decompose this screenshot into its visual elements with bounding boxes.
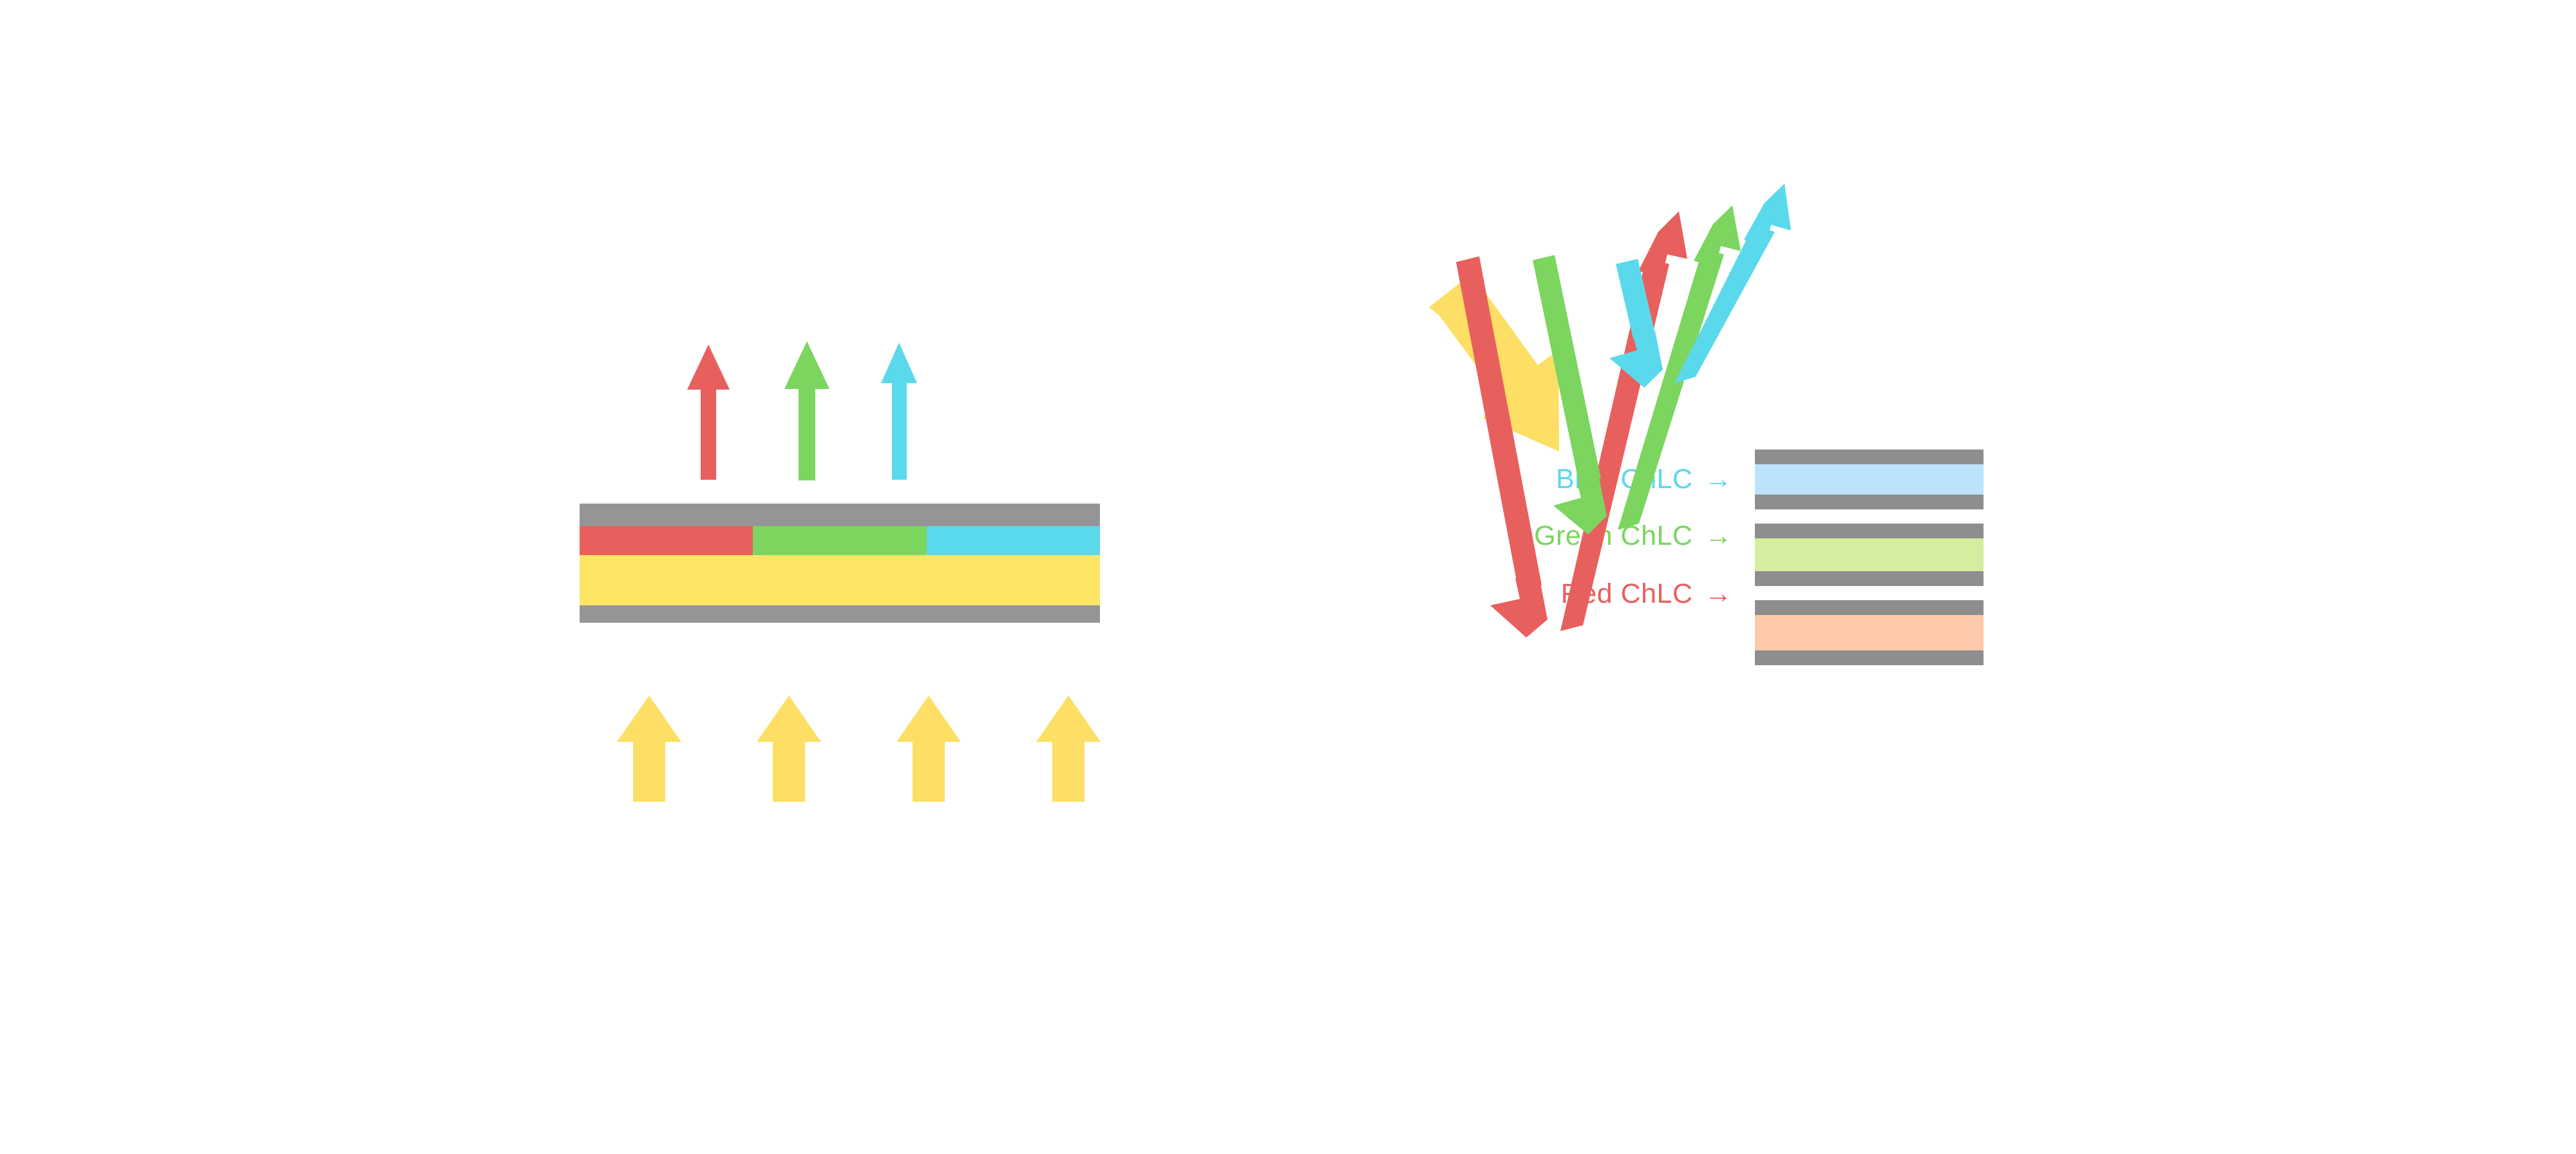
blue-ray [1609, 184, 1791, 388]
gap-green-red [1755, 586, 1984, 600]
red-top-electrode [1755, 600, 1984, 615]
emissive-stack-panel [580, 309, 1133, 824]
green-top-electrode [1755, 524, 1984, 538]
label-red-chlc-text: Red ChLC [1561, 578, 1693, 610]
label-green-chlc-text: Green ChLC [1534, 520, 1692, 552]
green-emission-arrow [784, 341, 829, 480]
label-blue-chlc: Blue ChLC → [1410, 464, 1732, 495]
emissive-layer-stack [580, 504, 1100, 623]
backlight-arrow-3 [896, 695, 961, 802]
green-chlc-substack [1755, 524, 1984, 586]
backlight-layer [580, 555, 1100, 605]
green-colour-filter [753, 526, 926, 555]
red-chlc-substack [1755, 600, 1984, 665]
gap-blue-green [1755, 509, 1984, 524]
label-blue-chlc-arrow-icon: → [1705, 464, 1733, 495]
backlight-arrow-1 [617, 695, 681, 802]
label-red-chlc-arrow-icon: → [1705, 578, 1733, 610]
blue-bottom-electrode [1755, 495, 1984, 509]
cyan-colour-filter [927, 526, 1100, 555]
green-bottom-electrode [1755, 571, 1984, 586]
blue-top-electrode [1755, 449, 1984, 464]
label-green-chlc-arrow-icon: → [1705, 520, 1733, 552]
cyan-emission-arrow [881, 343, 917, 480]
red-colour-filter [580, 526, 753, 555]
incident-white-light-arrow [1429, 274, 1559, 451]
chlc-stack-panel: Blue ChLC → Green ChLC → Red ChLC → [1410, 270, 2248, 889]
red-emission-arrow [687, 345, 730, 480]
red-ray [1456, 211, 1687, 638]
blue-chlc-substack [1755, 449, 1984, 509]
top-electrode-layer [580, 504, 1100, 526]
label-green-chlc: Green ChLC → [1410, 520, 1732, 552]
label-red-chlc: Red ChLC → [1410, 578, 1732, 610]
chlc-layer-stack [1755, 449, 1984, 665]
backlight-arrow-4 [1036, 695, 1101, 802]
red-chlc-layer [1755, 615, 1984, 650]
backlight-arrow-2 [757, 695, 821, 802]
blue-chlc-layer [1755, 464, 1984, 495]
colour-filter-row [580, 526, 1100, 555]
green-chlc-layer [1755, 538, 1984, 571]
diagram-canvas: Blue ChLC → Green ChLC → Red ChLC → [0, 0, 2576, 1154]
label-blue-chlc-text: Blue ChLC [1556, 464, 1692, 495]
red-bottom-electrode [1755, 650, 1984, 665]
bottom-electrode-layer [580, 605, 1100, 623]
